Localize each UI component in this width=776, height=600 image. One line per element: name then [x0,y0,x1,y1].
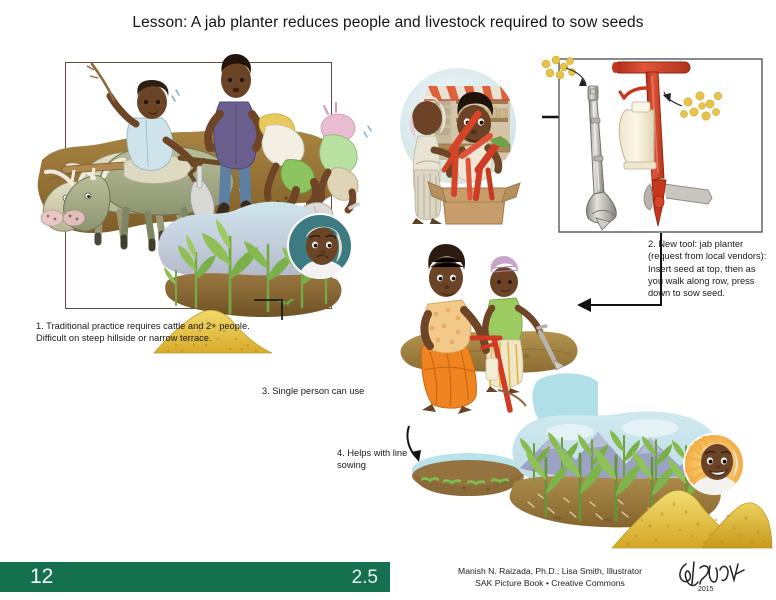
jab-planter-diagram [558,58,763,233]
illustrator-signature: 2015 [676,560,746,594]
credit-block: Manish N. Raizada, Ph.D.; Lisa Smith, Il… [430,565,670,590]
planter-box [428,182,520,224]
signature-year: 2015 [698,586,714,593]
page-title: Lesson: A jab planter reduces people and… [0,14,776,32]
caption-step-1: 1. Traditional practice requires cattle … [36,320,276,345]
credit-line-1: Manish N. Raizada, Ph.D.; Lisa Smith, Il… [430,565,670,577]
caption-step-4: 4. Helps with line sowing [337,447,409,472]
single-person-sowing-scene [398,240,598,430]
caption-step-3: 3. Single person can use [262,385,412,397]
happy-farmer-inset [682,432,746,496]
lesson-page: Lesson: A jab planter reduces people and… [0,0,776,600]
market-vendor-scene [382,52,542,227]
page-number: 12 [30,565,53,589]
worried-farmer-inset [286,212,354,280]
caption-step-2: 2. New tool: jab planter (request from l… [648,238,772,300]
connector-panel1-bracket [252,298,296,322]
section-number: 2.5 [300,566,378,590]
credit-line-2: SAK Picture Book • Creative Commons [430,577,670,589]
